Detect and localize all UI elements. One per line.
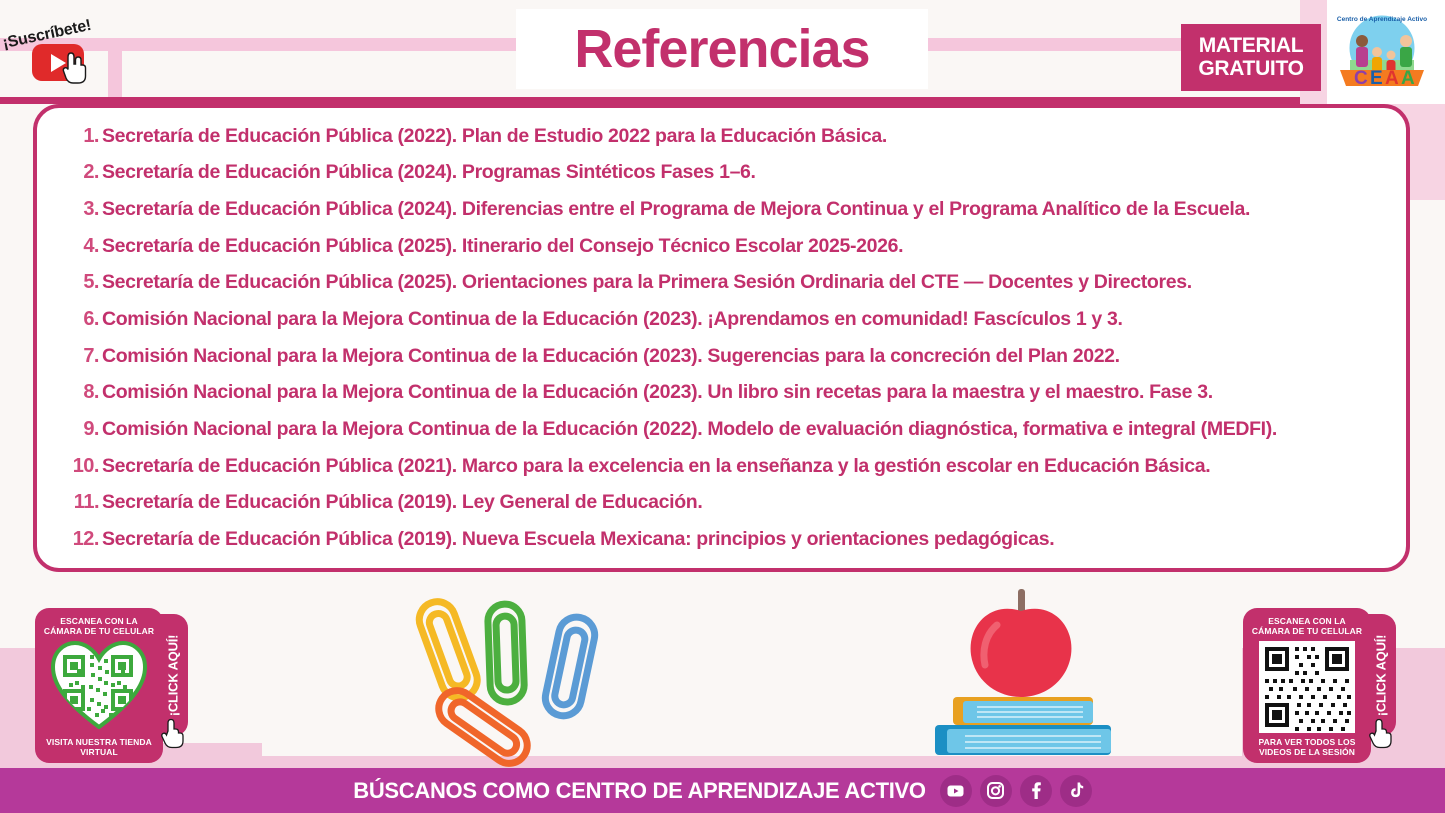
list-item: 7. Comisión Nacional para la Mejora Cont… [47, 345, 1390, 368]
list-item-number: 4. [63, 235, 99, 258]
pointer-hand-icon-right [1368, 718, 1398, 750]
material-badge-line1: MATERIAL [1199, 35, 1304, 58]
list-item: 5. Secretaría de Educación Pública (2025… [47, 271, 1390, 294]
ceaa-tagline: Centro de Aprendizaje Activo [1337, 16, 1427, 23]
list-item-text: Secretaría de Educación Pública (2021). … [102, 455, 1210, 478]
list-item-text: Secretaría de Educación Pública (2022). … [102, 125, 887, 148]
qr-caption-top-right-line2: CÁMARA DE TU CELULAR [1252, 626, 1362, 636]
list-item-number: 6. [63, 308, 99, 331]
click-here-label-left: ¡CLICK AQUÍ! [166, 634, 181, 716]
qr-caption-bottom-left-line2: VIRTUAL [46, 747, 152, 757]
list-item-number: 2. [63, 161, 99, 184]
paperclip-green [487, 604, 524, 703]
title-banner: Referencias [516, 9, 928, 89]
footer-social-icons [940, 775, 1092, 807]
paperclip-blue [542, 614, 598, 719]
list-item-number: 10. [63, 455, 99, 478]
material-gratuito-badge: MATERIAL GRATUITO [1181, 24, 1321, 91]
qr-caption-bottom-right-line1: PARA VER TODOS LOS [1258, 737, 1355, 747]
list-item-text: Comisión Nacional para la Mejora Continu… [102, 308, 1123, 331]
qr-caption-bottom-left-line1: VISITA NUESTRA TIENDA [46, 737, 152, 747]
apple-on-books-illustration [925, 585, 1125, 757]
qr-caption-top-left-line1: ESCANEA CON LA [44, 616, 154, 626]
tiktok-icon[interactable] [1060, 775, 1092, 807]
svg-text:A: A [1385, 68, 1399, 89]
list-item: 2. Secretaría de Educación Pública (2024… [47, 161, 1390, 184]
list-item: 1. Secretaría de Educación Pública (2022… [47, 125, 1390, 148]
list-item-text: Secretaría de Educación Pública (2024). … [102, 161, 756, 184]
list-item: 9. Comisión Nacional para la Mejora Cont… [47, 418, 1390, 441]
list-item-text: Secretaría de Educación Pública (2025). … [102, 271, 1192, 294]
qr-caption-top-left-line2: CÁMARA DE TU CELULAR [44, 626, 154, 636]
references-list: 1. Secretaría de Educación Pública (2022… [47, 118, 1390, 558]
qr-card-videos[interactable]: ESCANEA CON LA CÁMARA DE TU CELULAR [1243, 608, 1371, 763]
list-item: 11. Secretaría de Educación Pública (201… [47, 491, 1390, 514]
list-item-number: 8. [63, 381, 99, 404]
qr-caption-bottom-right-line2: VIDEOS DE LA SESIÓN [1258, 747, 1355, 757]
list-item-number: 3. [63, 198, 99, 221]
click-here-label-right: ¡CLICK AQUÍ! [1374, 634, 1389, 716]
subscribe-badge[interactable]: ¡Suscríbete! [0, 8, 200, 100]
list-item: 6. Comisión Nacional para la Mejora Cont… [47, 308, 1390, 331]
list-item-text: Comisión Nacional para la Mejora Continu… [102, 418, 1277, 441]
instagram-icon[interactable] [980, 775, 1012, 807]
facebook-icon[interactable] [1020, 775, 1052, 807]
paperclip-yellow [414, 597, 482, 703]
list-item: 12. Secretaría de Educación Pública (201… [47, 528, 1390, 551]
list-item-text: Comisión Nacional para la Mejora Continu… [102, 381, 1213, 404]
square-qr-code[interactable] [1259, 641, 1355, 733]
list-item-text: Secretaría de Educación Pública (2019). … [102, 491, 702, 514]
list-item-text: Secretaría de Educación Pública (2025). … [102, 235, 903, 258]
list-item-text: Secretaría de Educación Pública (2024). … [102, 198, 1250, 221]
list-item-number: 1. [63, 125, 99, 148]
svg-text:A: A [1401, 68, 1415, 89]
references-card: 1. Secretaría de Educación Pública (2022… [33, 104, 1410, 572]
pointer-hand-icon-left [160, 718, 190, 750]
qr-caption-top-right-line1: ESCANEA CON LA [1252, 616, 1362, 626]
footer-text: BÚSCANOS COMO CENTRO DE APRENDIZAJE ACTI… [353, 778, 925, 804]
list-item-number: 9. [63, 418, 99, 441]
qr-card-store[interactable]: ESCANEA CON LA CÁMARA DE TU CELULAR [35, 608, 163, 763]
qr-caption-top-right: ESCANEA CON LA CÁMARA DE TU CELULAR [1252, 616, 1362, 636]
list-item: 8. Comisión Nacional para la Mejora Cont… [47, 381, 1390, 404]
list-item-number: 11. [63, 491, 99, 514]
book-blue [935, 725, 1111, 755]
heart-qr-code[interactable] [51, 641, 147, 729]
list-item: 4. Secretaría de Educación Pública (2025… [47, 235, 1390, 258]
pointer-hand-icon [62, 52, 88, 86]
list-item: 3. Secretaría de Educación Pública (2024… [47, 198, 1390, 221]
list-item: 10. Secretaría de Educación Pública (202… [47, 455, 1390, 478]
youtube-icon[interactable] [940, 775, 972, 807]
list-item-number: 12. [63, 528, 99, 551]
svg-text:E: E [1370, 68, 1383, 89]
page-title: Referencias [574, 18, 869, 80]
ceaa-logo: Centro de Aprendizaje Activo C E A A [1332, 8, 1432, 100]
svg-text:C: C [1354, 68, 1368, 89]
slide-root: ¡Suscríbete! Referencias MATERIAL GRATUI… [0, 0, 1445, 813]
list-item-text: Secretaría de Educación Pública (2019). … [102, 528, 1054, 551]
book-orange [953, 697, 1093, 725]
material-badge-line2: GRATUITO [1198, 58, 1303, 81]
footer-bar: BÚSCANOS COMO CENTRO DE APRENDIZAJE ACTI… [0, 768, 1445, 813]
qr-caption-bottom-left: VISITA NUESTRA TIENDA VIRTUAL [46, 737, 152, 757]
qr-caption-bottom-right: PARA VER TODOS LOS VIDEOS DE LA SESIÓN [1258, 737, 1355, 757]
list-item-number: 5. [63, 271, 99, 294]
qr-caption-top-left: ESCANEA CON LA CÁMARA DE TU CELULAR [44, 616, 154, 636]
paperclips-illustration [393, 592, 618, 767]
decorative-line-magenta [0, 97, 1402, 104]
list-item-text: Comisión Nacional para la Mejora Continu… [102, 345, 1120, 368]
list-item-number: 7. [63, 345, 99, 368]
